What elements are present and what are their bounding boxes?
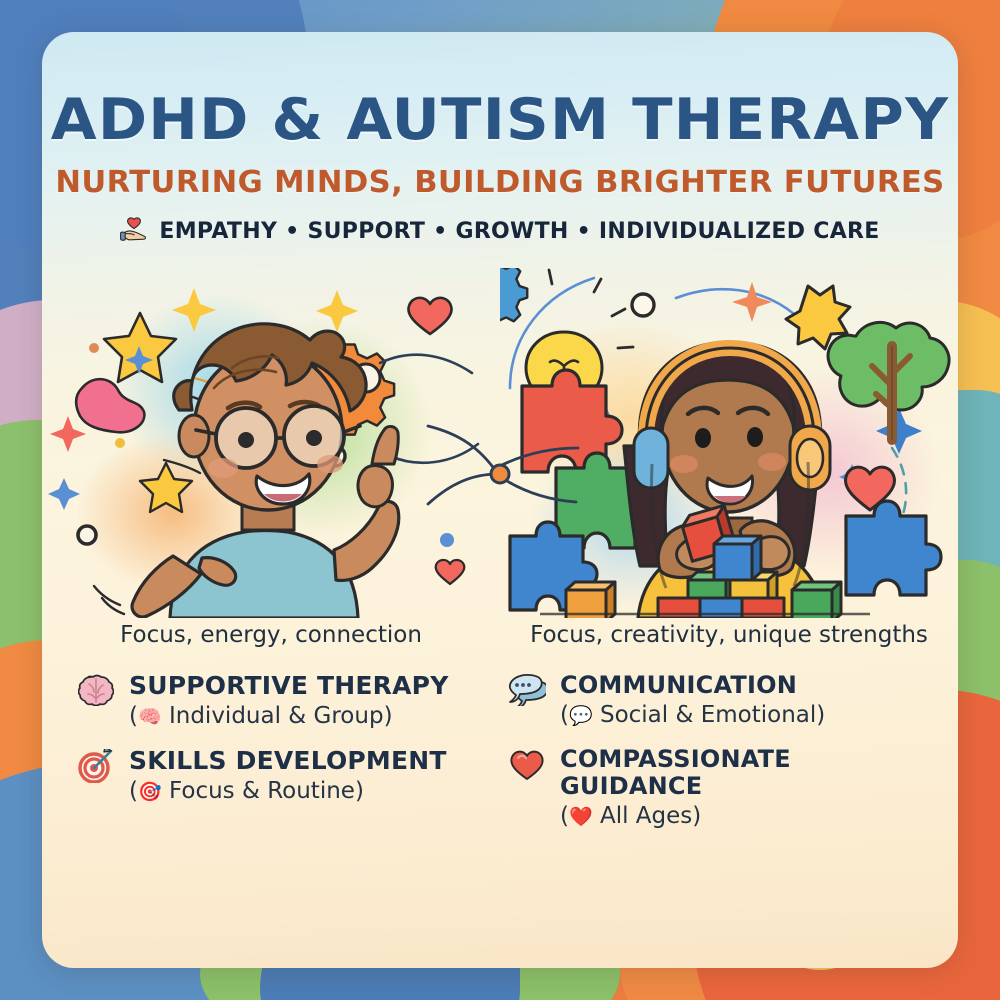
feature-subtext: (❤️ All Ages) [560, 803, 924, 829]
feature-heading: SKILLS DEVELOPMENT [129, 747, 493, 776]
feature-subtext-label: Individual & Group [169, 703, 384, 729]
feature-subtext: (🧠 Individual & Group) [129, 703, 493, 729]
tagline-text: EMPATHY • SUPPORT • GROWTH • INDIVIDUALI… [159, 219, 879, 244]
feature-subtext: (🎯 Focus & Routine) [129, 778, 493, 804]
page-title: ADHD & AUTISM THERAPY [42, 92, 958, 149]
heart-icon [507, 746, 547, 786]
feature-heading: SUPPORTIVE THERAPY [129, 672, 493, 701]
connector-node [420, 418, 580, 538]
feature-subtext-label: Social & Emotional [600, 702, 816, 728]
feature-subtext-label: All Ages [600, 803, 692, 829]
caption-autism: Focus, creativity, unique strengths [500, 622, 958, 648]
features-column-right: COMMUNICATION (💬 Social & Emotional) COM… [507, 672, 924, 847]
feature-heading: COMPASSIONATE GUIDANCE [560, 746, 924, 801]
illustrations-row [42, 268, 958, 618]
feature-subtext-label: Focus & Routine [169, 778, 355, 804]
features-column-left: SUPPORTIVE THERAPY (🧠 Individual & Group… [76, 672, 493, 847]
heart-mini-icon: ❤️ [569, 806, 593, 828]
heart-icon-top [408, 298, 451, 334]
puzzle-piece-icon-blue-right [846, 501, 941, 595]
sparkle-icon-orange [732, 282, 772, 322]
target-mini-icon: 🎯 [138, 781, 162, 803]
dot-yellow [115, 438, 125, 448]
feature-heading: COMMUNICATION [560, 672, 924, 700]
speech-bubble-mini-icon: 💬 [569, 705, 593, 727]
brain-icon [76, 672, 116, 711]
feature-item-compassionate-guidance: COMPASSIONATE GUIDANCE (❤️ All Ages) [507, 746, 924, 829]
poster-header: ADHD & AUTISM THERAPY NURTURING MINDS, B… [42, 32, 958, 246]
feature-subtext: (💬 Social & Emotional) [560, 702, 924, 728]
feature-item-supportive-therapy: SUPPORTIVE THERAPY (🧠 Individual & Group… [76, 672, 493, 729]
captions-row: Focus, energy, connection Focus, creativ… [42, 622, 958, 648]
target-icon [76, 747, 116, 788]
brain-mini-icon: 🧠 [138, 706, 162, 728]
connector-dot [491, 465, 509, 483]
feature-item-skills-development: SKILLS DEVELOPMENT (🎯 Focus & Routine) [76, 747, 493, 804]
tagline: EMPATHY • SUPPORT • GROWTH • INDIVIDUALI… [42, 216, 958, 246]
heart-icon-bottom [436, 560, 465, 584]
features-section: SUPPORTIVE THERAPY (🧠 Individual & Group… [42, 672, 958, 847]
sparkle-icon-blue [48, 478, 80, 510]
sparkle-icon-red [50, 416, 86, 452]
speech-bubble-icon [507, 672, 547, 711]
dot-orange [89, 343, 99, 353]
feature-item-communication: COMMUNICATION (💬 Social & Emotional) [507, 672, 924, 728]
poster-card: ADHD & AUTISM THERAPY NURTURING MINDS, B… [42, 32, 958, 968]
page-subtitle: NURTURING MINDS, BUILDING BRIGHTER FUTUR… [42, 165, 958, 200]
caption-adhd: Focus, energy, connection [42, 622, 500, 648]
hand-holding-heart-icon [120, 216, 150, 246]
